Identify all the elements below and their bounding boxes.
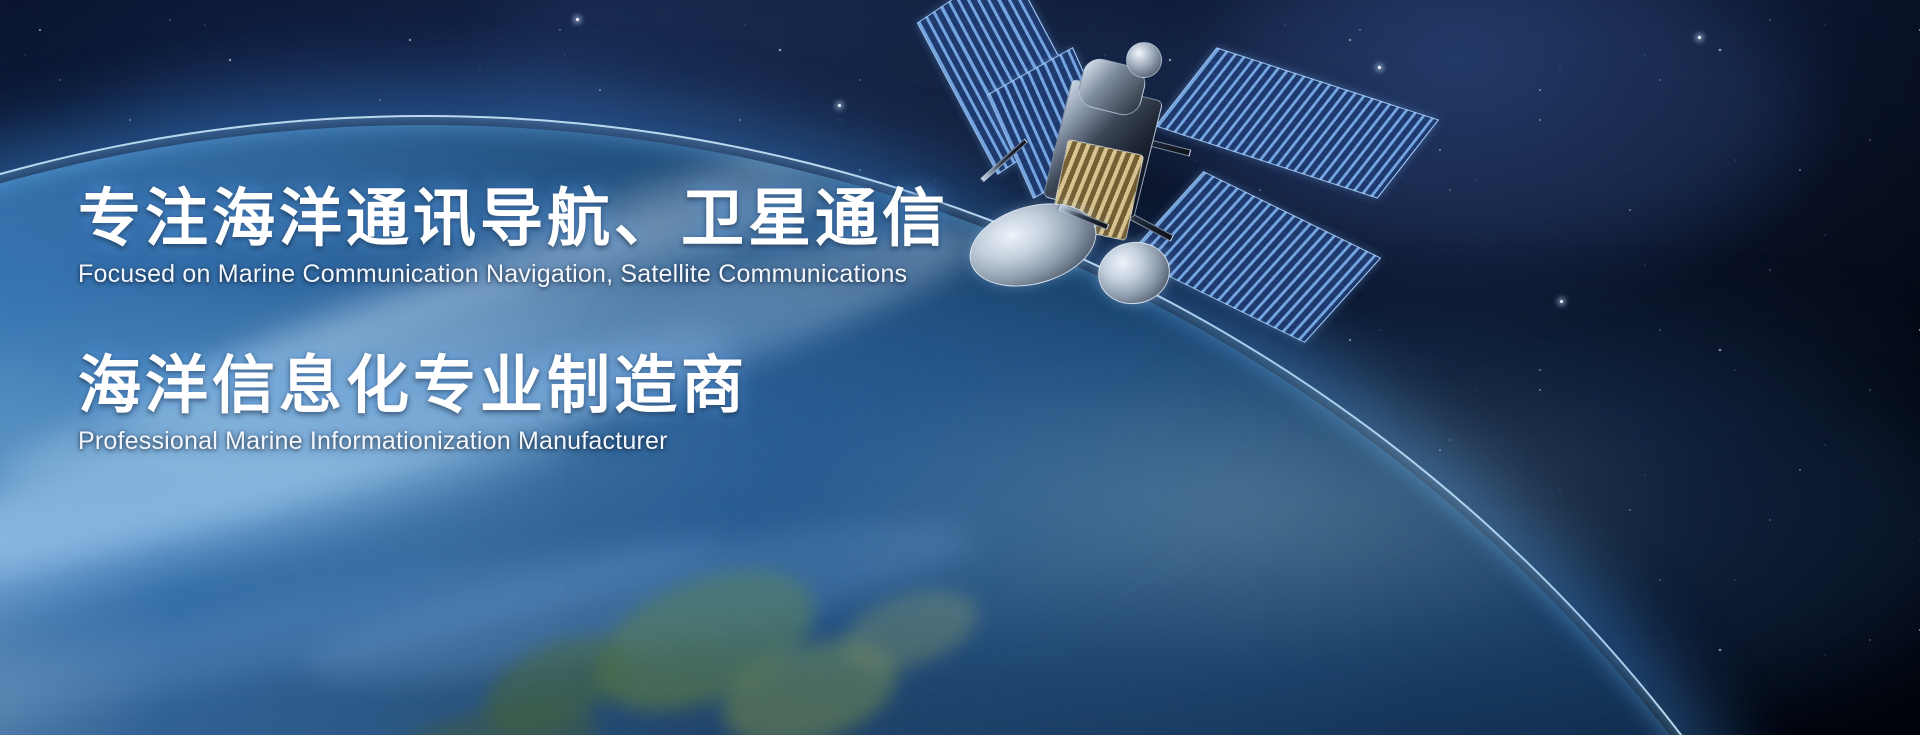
headline-1-english: Focused on Marine Communication Navigati… [78, 259, 1278, 290]
headline-2-chinese: 海洋信息化专业制造商 [78, 352, 1278, 420]
hero-text-block: 专注海洋通讯导航、卫星通信 Focused on Marine Communic… [78, 185, 1278, 458]
headline-2-english: Professional Marine Informationization M… [78, 426, 1278, 457]
hero-banner: 专注海洋通讯导航、卫星通信 Focused on Marine Communic… [0, 0, 1920, 735]
bright-star-icon [1560, 300, 1563, 303]
bright-star-icon [1698, 36, 1701, 39]
headline-group-2: 海洋信息化专业制造商 Professional Marine Informati… [78, 352, 1278, 457]
headline-1-chinese: 专注海洋通讯导航、卫星通信 [78, 185, 1278, 253]
bright-star-icon [838, 104, 841, 107]
thruster-nozzle [1126, 42, 1162, 78]
bright-star-icon [576, 18, 579, 21]
headline-group-1: 专注海洋通讯导航、卫星通信 Focused on Marine Communic… [78, 185, 1278, 290]
